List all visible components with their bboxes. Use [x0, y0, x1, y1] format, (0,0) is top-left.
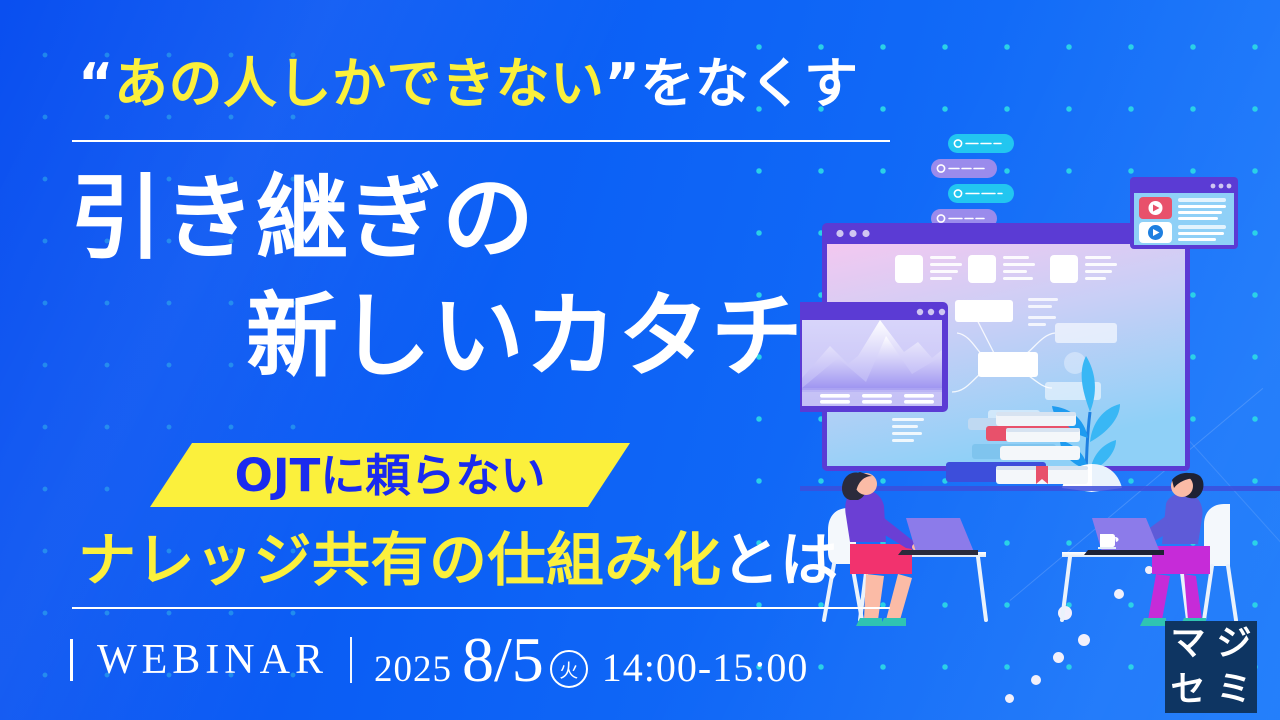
date-line: 2025 8/5 火 14:00-15:00 [374, 628, 808, 693]
kicker-headline: “あの人しかできない”をなくす [78, 48, 908, 120]
majiseminar-logo[interactable]: マ ジ セ ミ [1165, 621, 1257, 713]
footer-info: WEBINAR 2025 8/5 火 14:00-15:00 [70, 630, 808, 690]
decor-bubble [1031, 675, 1041, 685]
kicker-quote-close: ” [605, 52, 641, 115]
event-day-of-week: 火 [550, 650, 588, 688]
footer-divider-mid [350, 637, 352, 683]
page-title: 引き継ぎの 新しいカタチ [70, 160, 890, 396]
person-right [1062, 473, 1236, 626]
subtitle: ナレッジ共有の仕組み化とは [78, 523, 898, 597]
title-line-2: 新しいカタチ [70, 278, 890, 396]
chat-bubble-group [931, 134, 1014, 228]
decor-bubble [1005, 694, 1014, 703]
subtitle-highlight: ナレッジ共有の仕組み化 [78, 526, 722, 594]
event-year: 2025 [374, 648, 452, 691]
footer-divider-left [70, 639, 73, 681]
logo-char-2: ジ [1216, 627, 1251, 662]
ribbon-badge: OJTに頼らない [150, 443, 630, 507]
decor-bubble [1053, 652, 1064, 663]
logo-char-1: マ [1170, 627, 1205, 662]
webinar-label: WEBINAR [97, 636, 328, 684]
ribbon-label: OJTに頼らない [235, 453, 546, 498]
subtitle-tail: とは [722, 526, 839, 594]
title-line-1: 引き継ぎの [70, 165, 535, 272]
video-card-window [1130, 177, 1238, 249]
kicker-quote-open: “ [78, 52, 114, 115]
event-time-range: 14:00-15:00 [602, 644, 809, 691]
webinar-banner: “あの人しかできない”をなくす 引き継ぎの 新しいカタチ OJTに頼らない ナレ… [0, 0, 1280, 720]
event-month-day: 8/5 [462, 628, 544, 692]
logo-char-4: ミ [1216, 673, 1251, 708]
kicker-tail: をなくす [641, 52, 859, 115]
logo-char-3: セ [1170, 673, 1205, 708]
rule-bottom [72, 607, 890, 609]
kicker-highlight: あの人しかできない [114, 52, 605, 115]
rule-top [72, 140, 890, 142]
